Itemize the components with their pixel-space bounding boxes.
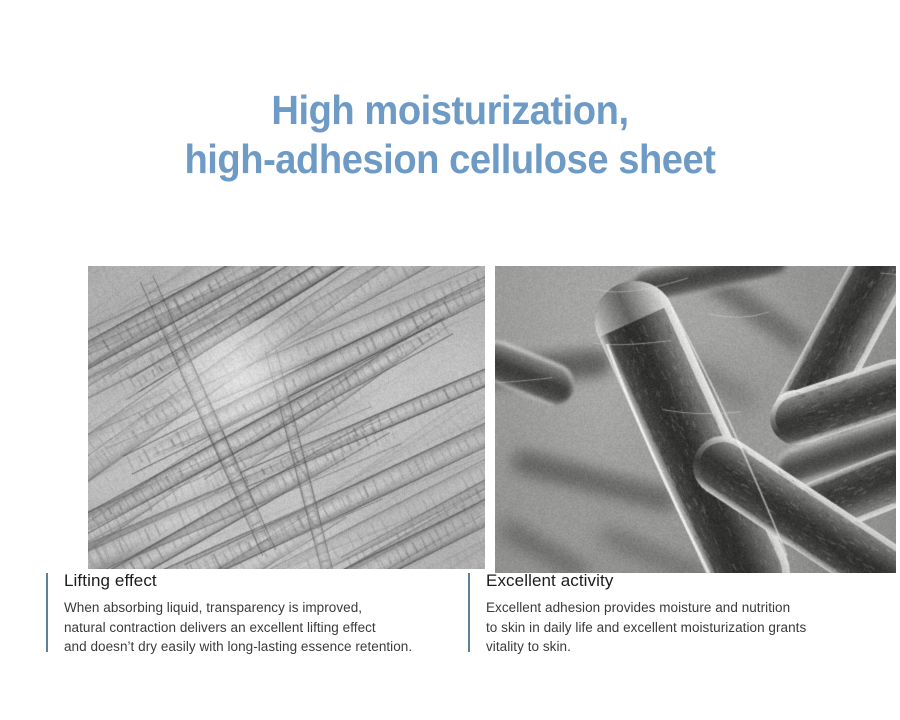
- caption-excellent-activity: Excellent activity Excellent adhesion pr…: [468, 570, 886, 657]
- page-title-line-2: high-adhesion cellulose sheet: [32, 135, 869, 184]
- product-feature-page: High moisturization, high-adhesion cellu…: [0, 0, 900, 720]
- caption-lifting-effect: Lifting effect When absorbing liquid, tr…: [46, 570, 464, 657]
- cellulose-fiber-micrograph: [88, 266, 485, 569]
- caption-body-line: natural contraction delivers an excellen…: [64, 618, 464, 638]
- caption-row: Lifting effect When absorbing liquid, tr…: [0, 570, 900, 670]
- caption-body: Excellent adhesion provides moisture and…: [486, 598, 886, 657]
- caption-body-line: When absorbing liquid, transparency is i…: [64, 598, 464, 618]
- media-row: [48, 250, 856, 557]
- caption-body-line: to skin in daily life and excellent mois…: [486, 618, 886, 638]
- page-title: High moisturization, high-adhesion cellu…: [0, 86, 900, 184]
- caption-body-line: and doesn’t dry easily with long-lasting…: [64, 637, 464, 657]
- caption-body-line: vitality to skin.: [486, 637, 886, 657]
- cellulose-fiber-image: [88, 266, 485, 569]
- caption-heading: Lifting effect: [64, 570, 464, 592]
- bacteria-sem-micrograph: [495, 266, 896, 573]
- caption-body-line: Excellent adhesion provides moisture and…: [486, 598, 886, 618]
- caption-body: When absorbing liquid, transparency is i…: [64, 598, 464, 657]
- bacteria-sem-image: [495, 266, 896, 573]
- page-title-line-1: High moisturization,: [32, 86, 869, 135]
- caption-heading: Excellent activity: [486, 570, 886, 592]
